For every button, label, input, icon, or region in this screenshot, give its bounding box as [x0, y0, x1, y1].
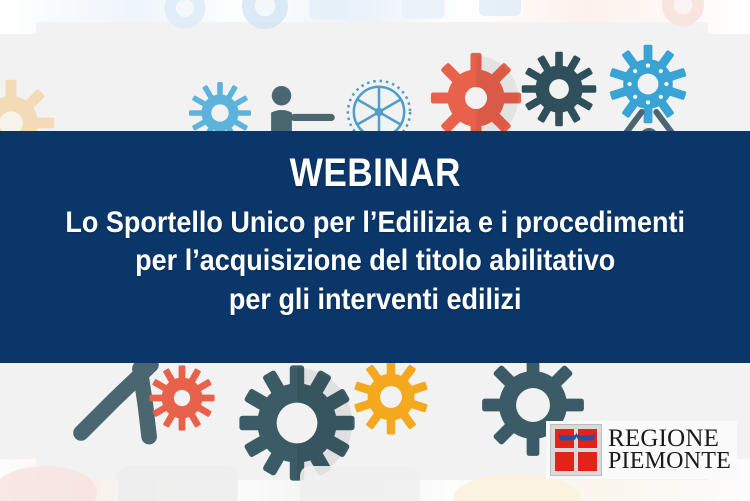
banner-subtitle: Lo Sportello Unico per l’Edilizia e i pr…: [65, 204, 685, 319]
regione-piemonte-logo: REGIONE PIEMONTE: [546, 421, 737, 479]
shape-pale-blue-top-3-icon: [300, 0, 360, 32]
gear-dark-slate-icon: [521, 51, 597, 127]
logo-line-regione: REGIONE: [608, 427, 731, 450]
shape-pale-grey-bottom-2-icon: [300, 460, 420, 501]
gear-orange-icon: [352, 358, 430, 436]
shape-pale-blue-top-5-icon: [470, 0, 530, 30]
worker-figure-pointing-icon: [262, 84, 340, 136]
logo-line-piemonte: PIEMONTE: [608, 450, 731, 472]
gear-pale-red-top-icon: [648, 0, 718, 36]
shape-pale-blue-top-4-icon: [392, 0, 454, 32]
logo-bird-icon: [558, 430, 596, 442]
logo-square-bottom-right: [578, 452, 597, 471]
banner-kicker: WEBINAR: [289, 153, 460, 194]
shape-pale-pink-bottom-icon: [0, 452, 100, 501]
webinar-poster: WEBINAR Lo Sportello Unico per l’Edilizi…: [0, 0, 750, 501]
banner-subtitle-line-2: per l’acquisizione del titolo abilitativ…: [65, 242, 685, 280]
regione-piemonte-mark-icon: [550, 424, 602, 476]
logo-wordmark: REGIONE PIEMONTE: [608, 427, 731, 473]
banner-subtitle-line-3: per gli interventi edilizi: [65, 281, 685, 319]
banner: WEBINAR Lo Sportello Unico per l’Edilizi…: [0, 131, 750, 363]
logo-square-bottom-left: [555, 452, 574, 471]
banner-subtitle-line-1: Lo Sportello Unico per l’Edilizia e i pr…: [65, 204, 685, 242]
shape-pale-grey-bottom-icon: [118, 458, 238, 501]
gear-red-small-icon: [148, 364, 216, 432]
gear-pale-blue-top-2-icon: [222, 0, 308, 38]
gear-pale-blue-top-icon: [150, 0, 220, 38]
